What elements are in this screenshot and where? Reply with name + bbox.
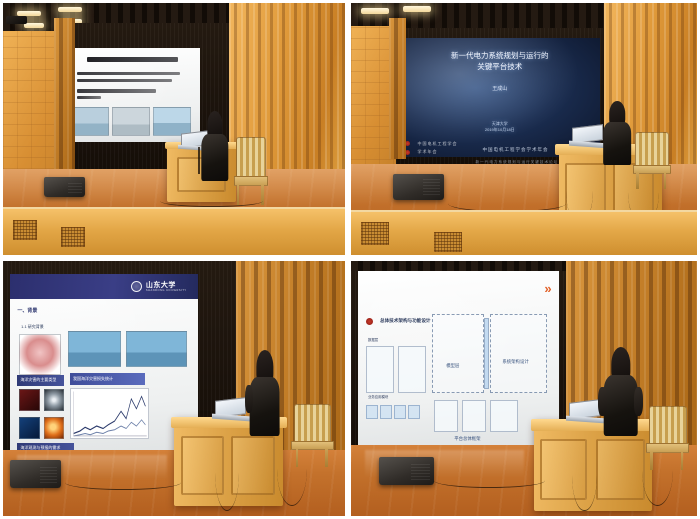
slide-band-left: 海洋灾害的主要类型 [17, 375, 64, 386]
speaker-arm-right [634, 387, 643, 416]
photo-collage: 新一代电力系统规划与运行的 关键平台技术 王成山 天津大学 2019年10月18… [0, 0, 700, 519]
floor-cable [277, 429, 308, 506]
diagram-cell [394, 405, 406, 419]
chair-leg [664, 173, 666, 190]
stage-curtain-left [389, 18, 406, 159]
presenter-laptop [572, 126, 603, 149]
stage-curtain-left [54, 18, 75, 169]
speaker-arm-left [598, 387, 607, 416]
slide-band-right: 我国海洋灾害损失统计 [70, 373, 145, 385]
stage-monitor-speaker [379, 457, 434, 485]
presenter-laptop [215, 399, 246, 422]
slide-affiliation: 天津大学 2019年10月18日 [399, 121, 600, 133]
microphone-stand [198, 147, 200, 175]
slide-footer-strip: 中国电机工程学会 [417, 142, 457, 146]
slide-title-stroke [87, 57, 177, 63]
seated-speaker [604, 104, 632, 164]
collage-panel-top-left[interactable] [0, 0, 348, 258]
auditorium-scene-1 [3, 3, 345, 255]
diagram-dashed-group [432, 314, 484, 393]
speaker-body [604, 375, 639, 436]
projection-screen: » 总体技术架构与功能设计 数据层 模型层 系统架构设计 业务应用模块 [358, 271, 559, 450]
diagram-block [434, 400, 458, 432]
slide-footer-strip: 学术年会 [417, 150, 437, 154]
chair-leg [681, 452, 684, 470]
university-name: 山东大学 [146, 282, 187, 289]
floor-cable [642, 434, 673, 505]
slide-line-chart [70, 388, 149, 439]
ceiling-light [24, 23, 45, 28]
diagram-block [490, 400, 518, 432]
seated-speaker [201, 114, 228, 180]
diagram-cell [366, 405, 378, 419]
lectern-front-panel [596, 439, 645, 500]
slide-image-sea [71, 107, 109, 136]
slide-university-header: 山东大学 SHANDONG UNIVERSITY [10, 274, 198, 300]
slide-body-stroke [77, 72, 181, 75]
floor-cable [160, 195, 263, 208]
diagram-label-model: 模型层 [446, 364, 459, 368]
chart-svg [71, 389, 148, 438]
diagram-block [398, 346, 426, 392]
presenter-laptop [569, 401, 600, 424]
ceiling-light [403, 6, 431, 12]
slide-image-fog [112, 107, 150, 136]
auditorium-scene-2: 新一代电力系统规划与运行的 关键平台技术 王成山 天津大学 2019年10月18… [351, 3, 697, 255]
diagram-label-modules: 业务应用模块 [368, 396, 388, 399]
slide-title: 总体技术架构与功能设计 [380, 319, 431, 324]
stage-banner-text: 中国电机工程学会学术年会 [482, 148, 548, 153]
auditorium-scene-3: 山东大学 SHANDONG UNIVERSITY 一、背景 1.1 研究背景 海… [3, 261, 345, 516]
slide-title: 新一代电力系统规划与运行的 关键平台技术 [399, 50, 600, 73]
diagram-block [462, 400, 486, 432]
stage-monitor-speaker [10, 460, 61, 488]
slide-section-label: 一、背景 [17, 309, 37, 314]
diagram-label-architecture: 系统架构设计 [502, 360, 528, 364]
collage-panel-bottom-right[interactable]: » 总体技术架构与功能设计 数据层 模型层 系统架构设计 业务应用模块 [348, 258, 700, 519]
apron-vent-grille [13, 220, 37, 240]
stage-monitor-speaker [393, 174, 445, 199]
auditorium-scene-4: » 总体技术架构与功能设计 数据层 模型层 系统架构设计 业务应用模块 [351, 261, 697, 516]
speaker-body [249, 377, 280, 436]
slide-org-logo [366, 318, 373, 325]
standing-speaker [249, 353, 280, 435]
double-chevron-right-icon: » [544, 282, 550, 295]
slide-presenter: 王成山 [399, 86, 600, 94]
laptop-base [212, 413, 250, 421]
slide-body-stroke [77, 79, 173, 82]
stage-apron [3, 207, 345, 255]
diagram-label-data: 数据层 [368, 339, 378, 342]
diagram-label-framework: 平台总体框架 [454, 437, 480, 441]
laptop-base [569, 141, 608, 149]
university-name-en: SHANDONG UNIVERSITY [146, 289, 187, 292]
diagram-cell [408, 405, 420, 419]
slide-image-wind-farm [126, 331, 186, 368]
slide-body-stroke [77, 96, 102, 99]
stage-chair [236, 137, 267, 203]
collage-panel-bottom-left[interactable]: 山东大学 SHANDONG UNIVERSITY 一、背景 1.1 研究背景 海… [0, 258, 348, 519]
slide-image-solar-flare [44, 417, 65, 439]
ceiling-projector [6, 16, 27, 25]
apron-vent-grille [361, 222, 389, 245]
speaker-body [604, 122, 632, 166]
stage-apron [351, 210, 697, 255]
apron-vent-grille [61, 227, 85, 247]
speaker-arm [245, 385, 253, 413]
stage-monitor-speaker [44, 177, 85, 197]
slide-body-stroke [77, 89, 156, 92]
projection-screen [63, 48, 200, 141]
chair-leg [325, 449, 328, 467]
slide-image-blue-circuit [19, 417, 40, 439]
speaker-body [201, 134, 228, 181]
diagram-block [366, 346, 394, 392]
diagram-cell [380, 405, 392, 419]
projection-screen: 山东大学 SHANDONG UNIVERSITY 一、背景 1.1 研究背景 海… [10, 274, 198, 458]
slide-image-typhoon [19, 389, 40, 411]
standing-speaker [604, 350, 639, 434]
laptop-base [566, 416, 605, 424]
diagram-center-column [484, 318, 489, 389]
slide-sub-label: 1.1 研究背景 [21, 325, 44, 329]
projection-screen: 新一代电力系统规划与运行的 关键平台技术 王成山 天津大学 2019年10月18… [399, 38, 600, 156]
floor-cable [572, 440, 596, 511]
floor-cable [215, 434, 239, 511]
ceiling-light [361, 8, 389, 14]
chair-back [236, 137, 267, 178]
slide-image-offshore-wind [68, 331, 121, 368]
collage-panel-top-right[interactable]: 新一代电力系统规划与运行的 关键平台技术 王成山 天津大学 2019年10月18… [348, 0, 700, 258]
apron-vent-grille [434, 232, 462, 252]
slide-image-hurricane [44, 389, 65, 411]
university-seal-icon [131, 281, 142, 292]
ceiling-light [58, 7, 82, 13]
floor-cable [434, 473, 545, 488]
slide-image-china-map [19, 334, 60, 374]
diagram-dashed-group [490, 314, 546, 393]
